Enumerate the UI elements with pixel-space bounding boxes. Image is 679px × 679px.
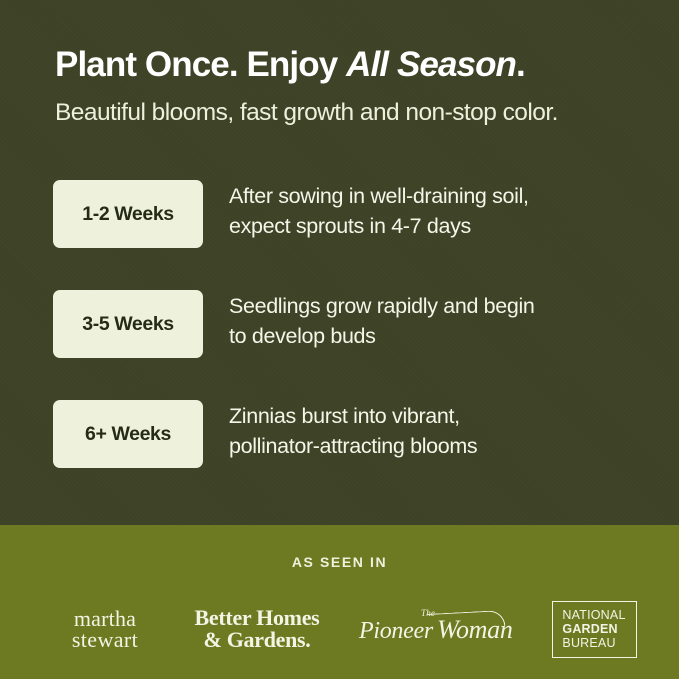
timeline-description-3: Zinnias burst into vibrant, pollinator-a… [229, 401, 649, 461]
timeline-badge-3: 6+ Weeks [53, 400, 203, 468]
timeline-desc-line-1: Zinnias burst into vibrant, [229, 404, 460, 428]
logo-ngb-line-1: NATIONAL [562, 608, 625, 622]
timeline-description-1: After sowing in well-draining soil, expe… [229, 181, 649, 241]
logo-ngb-box: NATIONAL GARDEN BUREAU [552, 601, 637, 658]
logo-the-pioneer-woman: The Pioneer Woman [352, 593, 514, 665]
logo-pioneer-woman-pioneer: Pioneer [359, 618, 433, 644]
as-seen-in-label: AS SEEN IN [0, 554, 679, 570]
headline-emphasis: All Season [346, 45, 516, 84]
logo-pioneer-woman-the: The [421, 609, 435, 618]
logo-pioneer-woman-woman: Woman [437, 616, 513, 644]
timeline-desc-line-2: expect sprouts in 4-7 days [229, 211, 649, 241]
timeline-row: 6+ Weeks Zinnias burst into vibrant, pol… [53, 400, 653, 468]
headline-part-1: Plant Once. Enjoy [55, 45, 346, 84]
logo-ngb-line-2: GARDEN [562, 622, 625, 636]
page-title: Plant Once. Enjoy All Season. [55, 44, 655, 85]
timeline-badge-label: 6+ Weeks [85, 423, 171, 446]
logo-bhg-line-1: Better Homes [195, 607, 320, 629]
headline-part-2: . [516, 45, 525, 84]
promo-poster: Plant Once. Enjoy All Season. Beautiful … [0, 0, 679, 679]
timeline-desc-line-1: Seedlings grow rapidly and begin [229, 294, 535, 318]
subheadline: Beautiful blooms, fast growth and non-st… [55, 98, 665, 127]
logo-national-garden-bureau: NATIONAL GARDEN BUREAU [538, 593, 650, 665]
timeline-desc-line-1: After sowing in well-draining soil, [229, 184, 529, 208]
logo-ngb-line-3: BUREAU [562, 636, 625, 650]
timeline-badge-label: 3-5 Weeks [82, 313, 173, 336]
timeline-desc-line-2: pollinator-attracting blooms [229, 431, 649, 461]
footer-press-bar: AS SEEN IN martha stewart Better Homes &… [0, 525, 679, 679]
timeline-desc-line-2: to develop buds [229, 321, 649, 351]
logo-martha-stewart-line-2: stewart [72, 629, 138, 650]
press-logo-row: martha stewart Better Homes & Gardens. T… [0, 593, 679, 665]
logo-bhg-line-2: & Gardens. [195, 629, 320, 651]
timeline-row: 3-5 Weeks Seedlings grow rapidly and beg… [53, 290, 653, 358]
logo-better-homes-and-gardens: Better Homes & Gardens. [178, 593, 336, 665]
timeline-description-2: Seedlings grow rapidly and begin to deve… [229, 291, 649, 351]
logo-martha-stewart: martha stewart [34, 593, 176, 665]
growth-timeline: 1-2 Weeks After sowing in well-draining … [53, 180, 653, 510]
timeline-badge-1: 1-2 Weeks [53, 180, 203, 248]
timeline-badge-2: 3-5 Weeks [53, 290, 203, 358]
logo-martha-stewart-line-1: martha [72, 608, 138, 629]
timeline-badge-label: 1-2 Weeks [82, 203, 173, 226]
timeline-row: 1-2 Weeks After sowing in well-draining … [53, 180, 653, 248]
